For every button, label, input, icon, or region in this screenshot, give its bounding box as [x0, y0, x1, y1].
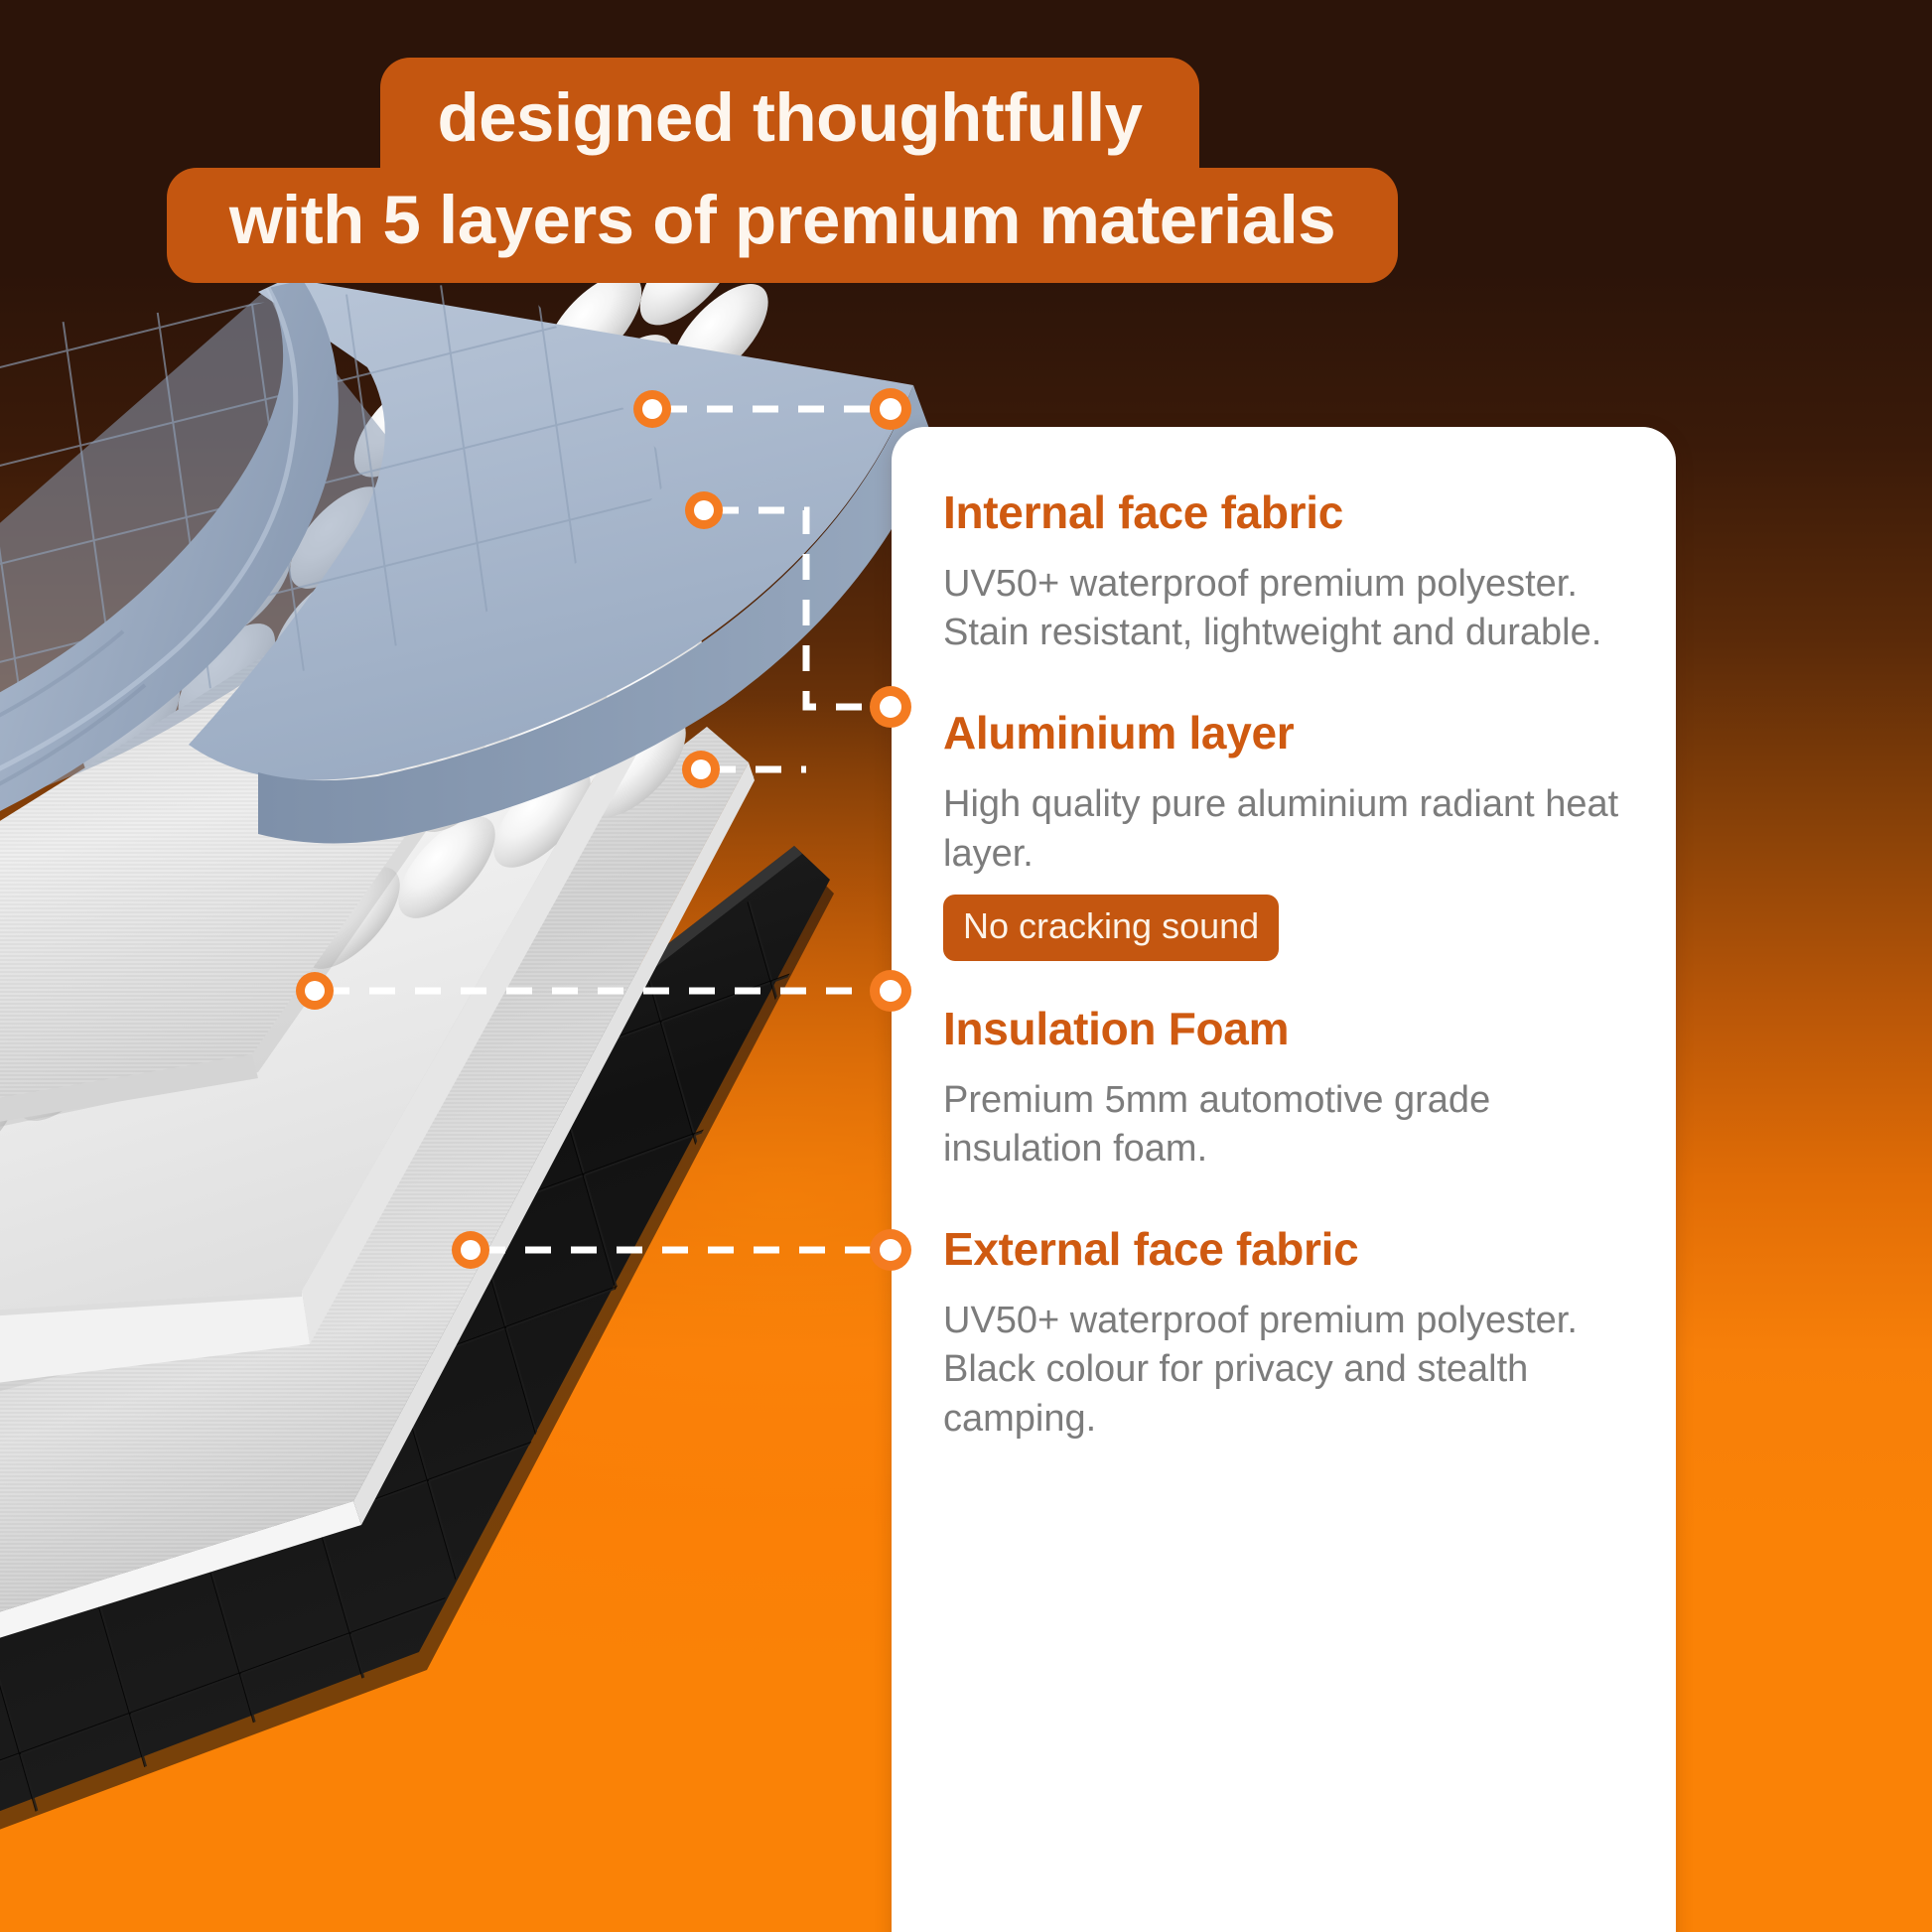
layer-title-external-face-fabric: External face fabric: [943, 1225, 1624, 1275]
layer-entry-aluminium-layer: Aluminium layer High quality pure alumin…: [943, 709, 1624, 960]
layer-entry-insulation-foam: Insulation Foam Premium 5mm automotive g…: [943, 1005, 1624, 1173]
spacer: [943, 961, 1624, 1005]
layer-description-external-face-fabric: UV50+ waterproof premium polyester. Blac…: [943, 1297, 1624, 1444]
layer-description-aluminium-layer: High quality pure aluminium radiant heat…: [943, 780, 1624, 879]
title-line-1: designed thoughtfully: [380, 58, 1199, 170]
layer-entry-external-face-fabric: External face fabric UV50+ waterproof pr…: [943, 1225, 1624, 1444]
material-layers-illustration: [0, 278, 973, 1932]
title-corner-filler-left: [380, 152, 412, 184]
spacer: [943, 1173, 1624, 1225]
layer-title-aluminium-layer: Aluminium layer: [943, 709, 1624, 759]
title-line-2: with 5 layers of premium materials: [167, 168, 1398, 283]
title-corner-filler-right: [1168, 152, 1199, 184]
layer-entry-internal-face-fabric: Internal face fabric UV50+ waterproof pr…: [943, 488, 1624, 657]
no-cracking-sound-badge: No cracking sound: [943, 895, 1279, 961]
layer-title-insulation-foam: Insulation Foam: [943, 1005, 1624, 1054]
layer-title-internal-face-fabric: Internal face fabric: [943, 488, 1624, 538]
layer-info-panel: Internal face fabric UV50+ waterproof pr…: [892, 427, 1676, 1932]
layer-description-internal-face-fabric: UV50+ waterproof premium polyester. Stai…: [943, 560, 1624, 658]
title-banner: designed thoughtfully with 5 layers of p…: [167, 58, 1398, 285]
spacer: [943, 657, 1624, 709]
layer-description-insulation-foam: Premium 5mm automotive grade insulation …: [943, 1076, 1624, 1174]
